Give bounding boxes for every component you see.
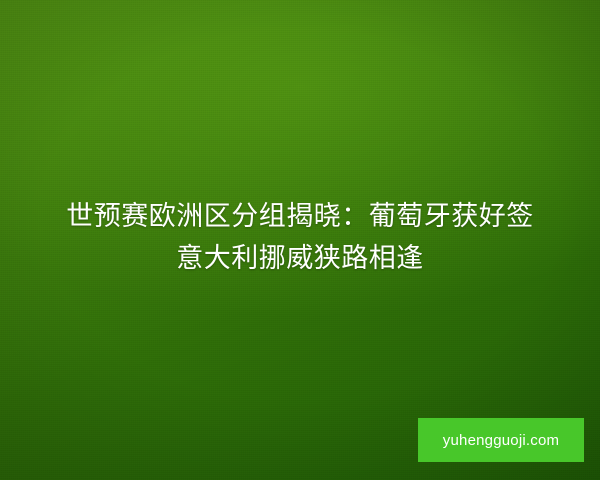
- watermark-label: yuhengguoji.com: [443, 432, 559, 449]
- banner-image: 世预赛欧洲区分组揭晓：葡萄牙获好签 意大利挪威狭路相逢 yuhengguoji.…: [0, 0, 600, 480]
- watermark-badge: yuhengguoji.com: [418, 418, 584, 462]
- headline-text: 世预赛欧洲区分组揭晓：葡萄牙获好签 意大利挪威狭路相逢: [0, 196, 600, 280]
